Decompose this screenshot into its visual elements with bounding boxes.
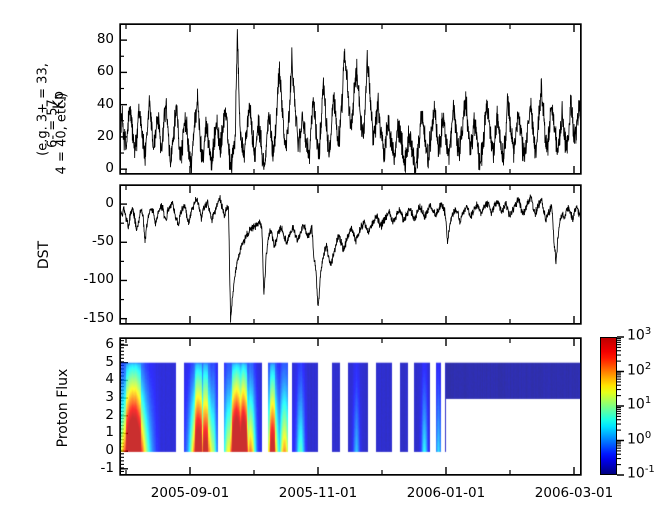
proton-flux-ytick-label: -1 [76, 460, 114, 476]
dst-ytick-label: -150 [74, 310, 114, 326]
dst-ytick-label: 0 [74, 195, 114, 211]
kp-ytick-label: 20 [74, 128, 114, 144]
kp-ytick-label: 40 [74, 96, 114, 112]
proton-flux-ytick-label: 2 [76, 407, 114, 423]
proton-flux-ytick-label: 5 [76, 354, 114, 370]
dst-ytick-label: -100 [74, 271, 114, 287]
dst-ytick-label: -50 [74, 233, 114, 249]
proton-flux-ytick-label: 0 [76, 442, 114, 458]
proton-flux-ytick-label: 6 [76, 336, 114, 352]
kp-ytick-label: 0 [74, 160, 114, 176]
x-tick-label: 2006-03-01 [514, 485, 634, 501]
kp-ytick-label: 60 [74, 63, 114, 79]
x-tick-label: 2006-01-01 [386, 485, 506, 501]
proton-flux-ytick-label: 1 [76, 424, 114, 440]
proton-flux-ytick-label: 3 [76, 389, 114, 405]
proton-flux-ytick-label: 4 [76, 371, 114, 387]
x-tick-label: 2005-11-01 [258, 485, 378, 501]
kp-ytick-label: 80 [74, 31, 114, 47]
figure-root: Kp (e.g. 3+ = 33, 6- = 57, 4 = 40, etc.)… [0, 0, 665, 523]
x-tick-label: 2005-09-01 [130, 485, 250, 501]
